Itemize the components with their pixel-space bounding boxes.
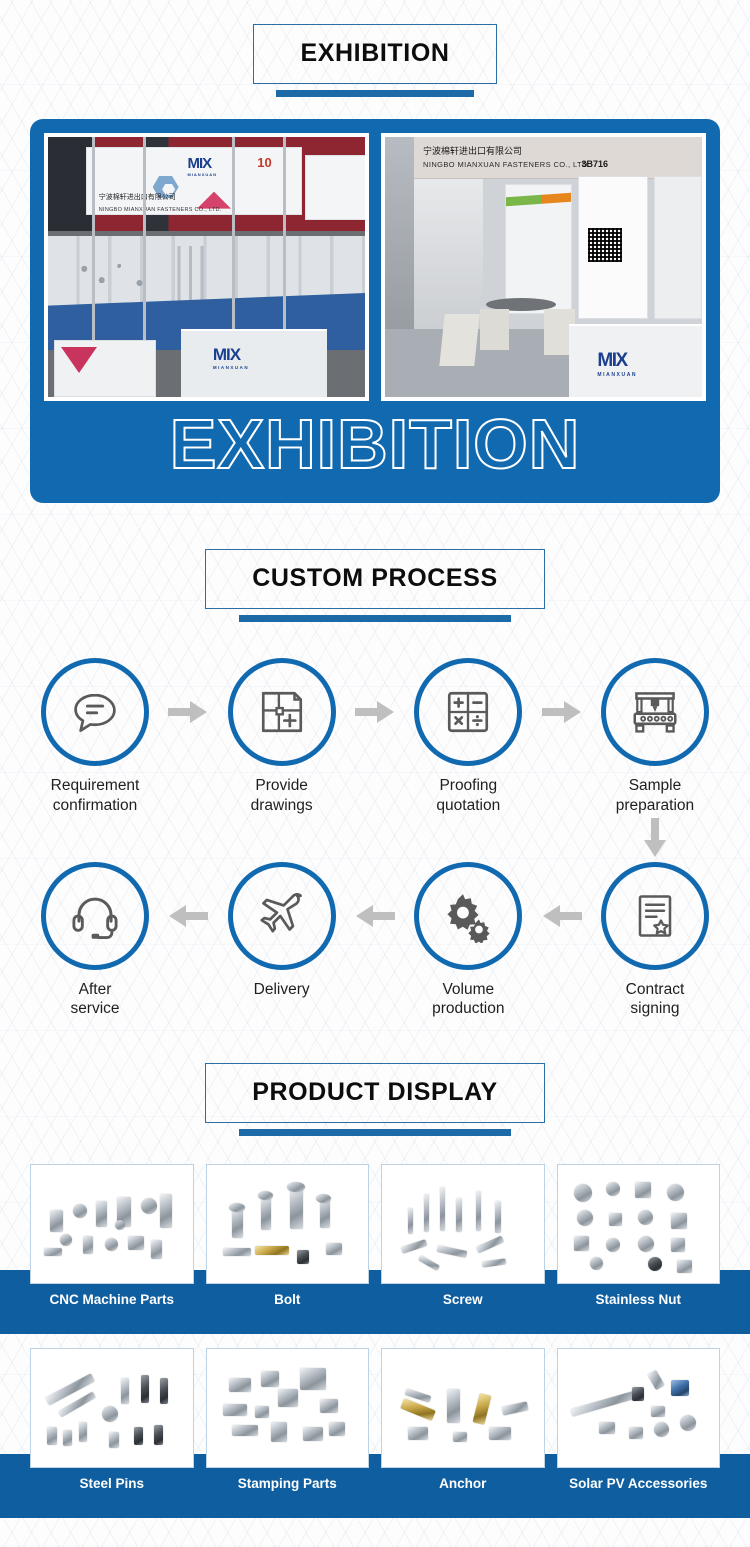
section-title-product-display: PRODUCT DISPLAY xyxy=(252,1078,498,1107)
speech-bubble-icon xyxy=(68,685,122,739)
process-step-after-service[interactable]: After service xyxy=(30,862,160,1020)
section-title-custom-process: CUSTOM PROCESS xyxy=(252,564,497,593)
process-step-label: Delivery xyxy=(217,980,347,1000)
gears-icon xyxy=(441,889,495,943)
exhibition-photo-booth-overview[interactable]: MIX MIANXUAN 10 宁波棉轩进出口有限公司 NINGBO MIANX… xyxy=(44,133,369,401)
process-step-delivery[interactable]: Delivery xyxy=(217,862,347,1000)
process-arrow-left xyxy=(352,862,398,970)
process-step-label-line1: Volume xyxy=(442,981,494,998)
process-step-label: Provide drawings xyxy=(217,776,347,816)
booth-sign-en: NINGBO MIANXUAN FASTENERS CO., LTD. xyxy=(423,160,590,169)
product-caption: Steel Pins xyxy=(79,1477,144,1491)
product-caption: Stainless Nut xyxy=(595,1293,681,1307)
process-step-circle xyxy=(41,658,149,766)
process-step-requirement-confirmation[interactable]: Requirement confirmation xyxy=(30,658,160,816)
process-arrow-right xyxy=(352,658,398,766)
page-root: EXHIBITION MIX MIANXUAN 10 xyxy=(0,0,750,1518)
process-step-circle xyxy=(601,862,709,970)
counter-brand-logo: MIX MIANXUAN xyxy=(213,345,249,370)
machine-icon xyxy=(628,685,682,739)
process-step-circle xyxy=(601,658,709,766)
custom-process-flow: Requirement confirmation xyxy=(30,658,720,1019)
booth-chair xyxy=(439,314,479,366)
process-arrow-right xyxy=(165,658,211,766)
process-step-label-line1: Contract xyxy=(626,981,685,998)
arrow-down-icon xyxy=(643,818,667,858)
product-thumbnail xyxy=(381,1348,545,1468)
process-step-circle xyxy=(41,862,149,970)
page-title: EXHIBITION xyxy=(300,39,449,68)
process-arrow-left xyxy=(539,862,585,970)
counter-brand-logo: MIX MIANXUAN xyxy=(597,350,637,378)
arrow-left-icon xyxy=(168,904,208,928)
product-card-screw[interactable]: Screw xyxy=(381,1164,545,1334)
product-image-cnc-parts xyxy=(31,1165,193,1283)
product-card-solar-pv-accessories[interactable]: Solar PV Accessories xyxy=(557,1348,721,1518)
process-row-1: Requirement confirmation xyxy=(30,658,720,816)
counter-brand-subtext: MIANXUAN xyxy=(597,372,637,378)
product-image-anchors xyxy=(382,1349,544,1467)
product-display-heading-wrap: PRODUCT DISPLAY xyxy=(0,1019,750,1136)
process-step-label-line2: service xyxy=(70,1000,119,1017)
process-arrow-right xyxy=(539,658,585,766)
arrow-right-icon xyxy=(168,700,208,724)
exhibition-banner-word: EXHIBITION xyxy=(44,401,706,493)
exhibition-heading-box: EXHIBITION xyxy=(253,24,496,84)
brand-logo: MIX MIANXUAN xyxy=(187,155,217,177)
process-step-label-line2: preparation xyxy=(616,797,694,814)
product-card-cnc-machine-parts[interactable]: CNC Machine Parts xyxy=(30,1164,194,1334)
booth-company-cn: 宁波棉轩进出口有限公司 xyxy=(99,192,176,202)
booth-interior-image: 宁波棉轩进出口有限公司 NINGBO MIANXUAN FASTENERS CO… xyxy=(385,137,702,397)
process-arrow-left xyxy=(165,862,211,970)
product-caption: Anchor xyxy=(439,1477,486,1491)
process-step-label-line1: After xyxy=(79,981,112,998)
booth-company-en-text: NINGBO MIANXUAN FASTENERS CO., LTD. xyxy=(99,207,222,213)
custom-process-heading-box: CUSTOM PROCESS xyxy=(205,549,544,609)
product-caption: Stamping Parts xyxy=(238,1477,337,1491)
booth-banner-side xyxy=(305,155,365,220)
process-step-label: Contract signing xyxy=(590,980,720,1020)
arrow-right-icon xyxy=(355,700,395,724)
product-thumbnail xyxy=(206,1164,370,1284)
product-image-steel-pins xyxy=(31,1349,193,1467)
process-step-label: After service xyxy=(30,980,160,1020)
process-step-label-line1: Sample xyxy=(629,777,682,794)
process-step-provide-drawings[interactable]: Provide drawings xyxy=(217,658,347,816)
process-step-label: Volume production xyxy=(403,980,533,1020)
product-image-solar-pv xyxy=(558,1349,720,1467)
arrow-right-icon xyxy=(542,700,582,724)
product-row-2: Steel Pins xyxy=(0,1348,750,1518)
process-step-label-line2: quotation xyxy=(436,797,500,814)
process-step-label: Proofing quotation xyxy=(403,776,533,816)
booth-sign-cn: 宁波棉轩进出口有限公司 xyxy=(423,144,522,157)
product-thumbnail xyxy=(381,1164,545,1284)
booth-poster-bolts xyxy=(505,184,572,314)
process-arrow-down-wrap xyxy=(590,818,720,858)
product-image-bolts xyxy=(207,1165,369,1283)
booth-floor-board xyxy=(54,340,155,397)
counter-brand-text: MIX xyxy=(213,345,240,364)
product-card-bolt[interactable]: Bolt xyxy=(206,1164,370,1334)
product-row-items: Steel Pins xyxy=(30,1348,720,1518)
process-step-label: Sample preparation xyxy=(590,776,720,816)
process-step-circle xyxy=(228,658,336,766)
exhibition-photo-booth-interior[interactable]: 宁波棉轩进出口有限公司 NINGBO MIANXUAN FASTENERS CO… xyxy=(381,133,706,401)
exhibition-banner: MIX MIANXUAN 10 宁波棉轩进出口有限公司 NINGBO MIANX… xyxy=(30,119,720,503)
counter-brand-subtext: MIANXUAN xyxy=(213,365,249,370)
product-caption: Solar PV Accessories xyxy=(569,1477,707,1491)
headset-icon xyxy=(68,889,122,943)
brand-logo-text: MIX xyxy=(187,155,211,172)
arrow-left-icon xyxy=(355,904,395,928)
exhibition-heading-underline xyxy=(276,90,474,97)
product-caption: Screw xyxy=(443,1293,483,1307)
product-thumbnail xyxy=(30,1164,194,1284)
process-step-label-line1: Proofing xyxy=(439,777,497,794)
process-step-label-line1: Delivery xyxy=(254,981,310,998)
process-step-sample-preparation[interactable]: Sample preparation xyxy=(590,658,720,816)
custom-process-heading-underline xyxy=(239,615,511,622)
process-step-label-line1: Provide xyxy=(255,777,308,794)
counter-brand-text: MIX xyxy=(597,350,626,371)
product-card-steel-pins[interactable]: Steel Pins xyxy=(30,1348,194,1518)
product-display-heading-underline xyxy=(239,1129,511,1136)
product-card-stainless-nut[interactable]: Stainless Nut xyxy=(557,1164,721,1334)
process-step-label-line2: production xyxy=(432,1000,504,1017)
product-image-nuts xyxy=(558,1165,720,1283)
process-step-label-line1: Requirement xyxy=(51,777,140,794)
process-step-circle xyxy=(414,658,522,766)
product-thumbnail xyxy=(206,1348,370,1468)
process-step-label: Requirement confirmation xyxy=(30,776,160,816)
booth-counter xyxy=(181,329,327,397)
process-step-proofing-quotation[interactable]: Proofing quotation xyxy=(403,658,533,816)
blueprint-icon xyxy=(257,687,307,737)
booth-chair xyxy=(480,309,509,351)
process-connector-row xyxy=(30,818,720,858)
calculator-icon xyxy=(443,687,493,737)
product-card-anchor[interactable]: Anchor xyxy=(381,1348,545,1518)
brand-logo-subtext: MIANXUAN xyxy=(187,172,217,177)
certificate-icon xyxy=(631,892,679,940)
custom-process-heading-wrap: CUSTOM PROCESS xyxy=(0,503,750,622)
process-step-label-line2: confirmation xyxy=(53,797,137,814)
booth-overview-image: MIX MIANXUAN 10 宁波棉轩进出口有限公司 NINGBO MIANX… xyxy=(48,137,365,397)
booth-company-en: NINGBO MIANXUAN FASTENERS CO., LTD. xyxy=(99,207,222,213)
product-row-items: CNC Machine Parts xyxy=(30,1164,720,1334)
product-image-screws xyxy=(382,1165,544,1283)
product-image-stamping-parts xyxy=(207,1349,369,1467)
product-thumbnail xyxy=(30,1348,194,1468)
process-step-label-line2: drawings xyxy=(251,797,313,814)
product-caption: CNC Machine Parts xyxy=(49,1293,174,1307)
process-step-volume-production[interactable]: Volume production xyxy=(403,862,533,1020)
process-step-label-line2: signing xyxy=(630,1000,679,1017)
product-caption: Bolt xyxy=(274,1293,300,1307)
anniversary-badge: 10 xyxy=(257,155,271,170)
product-row-1: CNC Machine Parts xyxy=(0,1164,750,1334)
product-thumbnail xyxy=(557,1348,721,1468)
product-card-stamping-parts[interactable]: Stamping Parts xyxy=(206,1348,370,1518)
booth-product-samples xyxy=(61,246,353,303)
booth-number: 3B716 xyxy=(582,159,609,169)
airplane-icon xyxy=(255,889,309,943)
exhibition-photo-row: MIX MIANXUAN 10 宁波棉轩进出口有限公司 NINGBO MIANX… xyxy=(44,133,706,401)
product-thumbnail xyxy=(557,1164,721,1284)
process-step-contract-signing[interactable]: Contract signing xyxy=(590,862,720,1020)
process-step-circle xyxy=(414,862,522,970)
product-display-grid: CNC Machine Parts xyxy=(0,1164,750,1518)
product-display-heading-box: PRODUCT DISPLAY xyxy=(205,1063,545,1123)
arrow-left-icon xyxy=(542,904,582,928)
qr-code-graphic xyxy=(588,228,622,262)
process-row-2: After service Delivery xyxy=(30,862,720,1020)
booth-poster-photos xyxy=(654,176,702,319)
process-step-circle xyxy=(228,862,336,970)
exhibition-heading-wrap: EXHIBITION xyxy=(0,0,750,97)
